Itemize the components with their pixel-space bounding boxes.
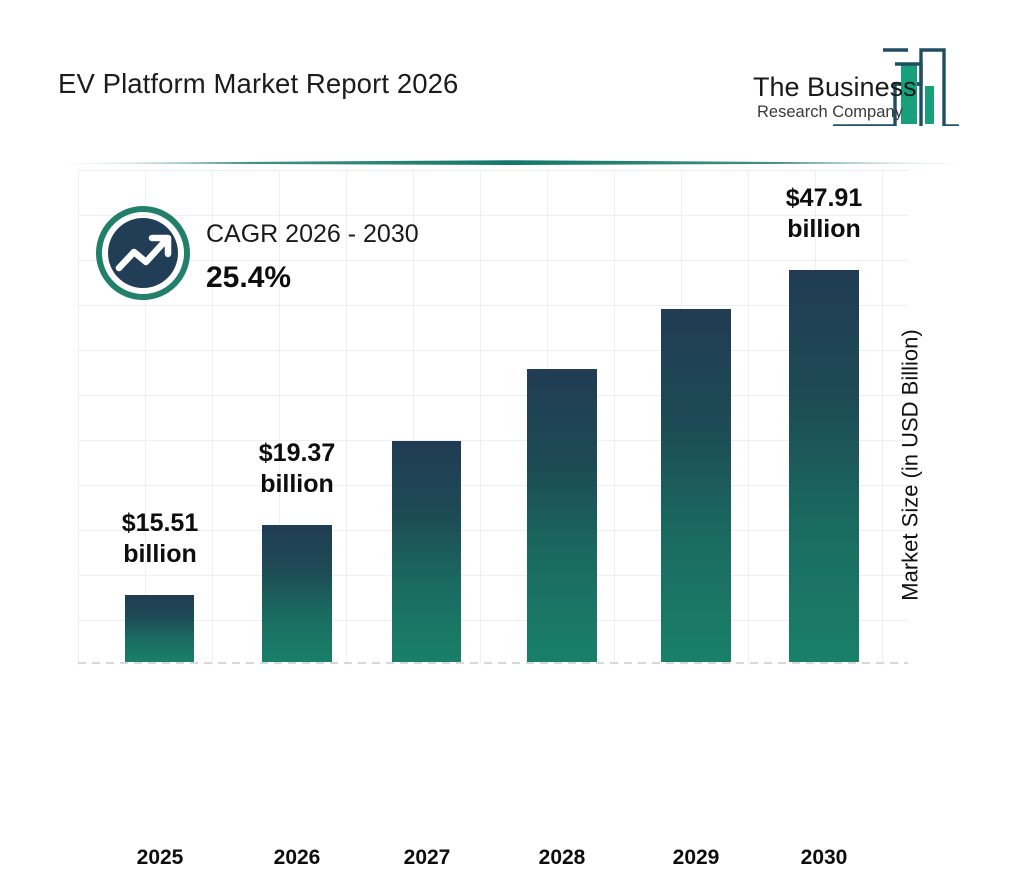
cagr-badge: CAGR 2026 - 2030 25.4%	[96, 206, 516, 304]
cagr-icon-circle	[96, 206, 190, 300]
logo-svg: The Business Research Company	[725, 38, 960, 126]
logo-text-line1: The Business	[753, 72, 917, 102]
x-tick-2029: 2029	[641, 846, 751, 870]
header-divider	[50, 154, 975, 162]
y-axis-title: Market Size (in USD Billion)	[896, 270, 926, 660]
logo-bar-short	[925, 86, 934, 124]
bar-2029[interactable]	[661, 309, 731, 662]
y-axis-title-text: Market Size (in USD Billion)	[898, 329, 924, 600]
bar-2026[interactable]	[262, 525, 332, 662]
trending-up-icon	[96, 206, 190, 300]
company-logo: The Business Research Company	[725, 38, 960, 126]
bar-2027[interactable]	[392, 441, 461, 662]
chart-page: EV Platform Market Report 2026 The Busin…	[0, 0, 1024, 768]
bar-2030[interactable]	[789, 270, 859, 662]
x-tick-2028: 2028	[507, 846, 617, 870]
page-title: EV Platform Market Report 2026	[58, 68, 458, 100]
logo-text-line2: Research Company	[757, 103, 904, 121]
bar-value-label-2030: $47.91 billion	[763, 183, 885, 244]
x-tick-2025: 2025	[105, 846, 215, 870]
bar-value-label-2025: $15.51 billion	[99, 508, 221, 569]
x-tick-2027: 2027	[372, 846, 482, 870]
cagr-value: 25.4%	[206, 261, 291, 295]
divider-svg	[50, 159, 975, 167]
x-tick-2026: 2026	[242, 846, 352, 870]
x-tick-2030: 2030	[769, 846, 879, 870]
bar-2025[interactable]	[125, 595, 194, 662]
bar-2028[interactable]	[527, 369, 597, 662]
bar-value-label-2026: $19.37 billion	[236, 438, 358, 499]
chart-baseline	[78, 662, 908, 664]
cagr-period-label: CAGR 2026 - 2030	[206, 220, 419, 249]
